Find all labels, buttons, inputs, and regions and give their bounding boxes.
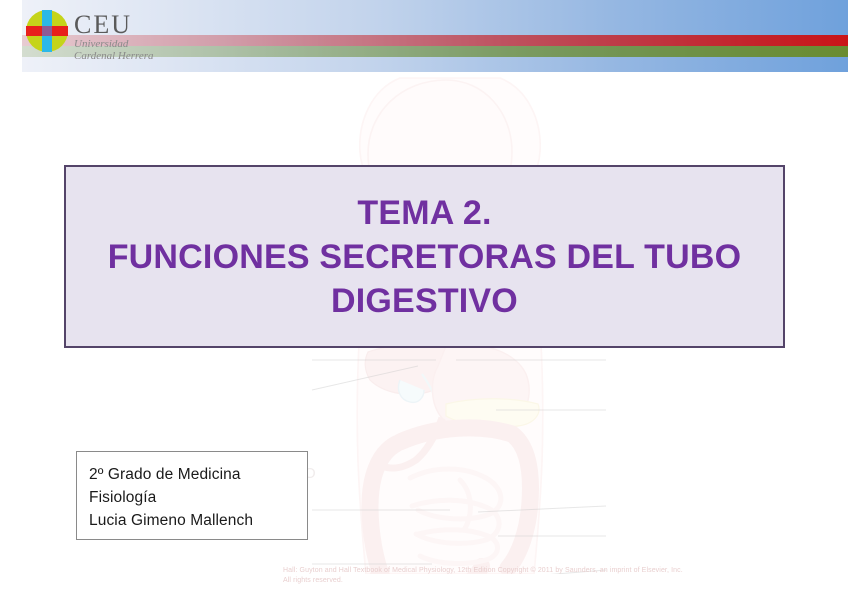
ceu-cross-logo-icon <box>26 10 68 52</box>
course-info-line-1: 2º Grado de Medicina <box>89 463 307 486</box>
logo-center-square-shape <box>42 26 52 36</box>
logo-subtitle-line-2: Cardenal Herrera <box>74 50 154 62</box>
course-info-line-2: Fisiología <box>89 486 307 509</box>
slide-title-box: TEMA 2. FUNCIONES SECRETORAS DEL TUBO DI… <box>64 165 785 348</box>
logo-subtitle-line-1: Universidad <box>74 38 154 50</box>
logo-wordmark: CEU <box>74 12 132 38</box>
course-info-line-3: Lucia Gimeno Mallench <box>89 509 307 532</box>
course-info-box: 2º Grado de Medicina Fisiología Lucia Gi… <box>76 451 308 540</box>
artwork-source-credit: Hall: Guyton and Hall Textbook of Medica… <box>283 566 683 585</box>
logo-subtitle: Universidad Cardenal Herrera <box>74 38 154 62</box>
presentation-slide: CEU Universidad Cardenal Herrera <box>0 0 848 600</box>
page-title: TEMA 2. FUNCIONES SECRETORAS DEL TUBO DI… <box>66 191 783 323</box>
